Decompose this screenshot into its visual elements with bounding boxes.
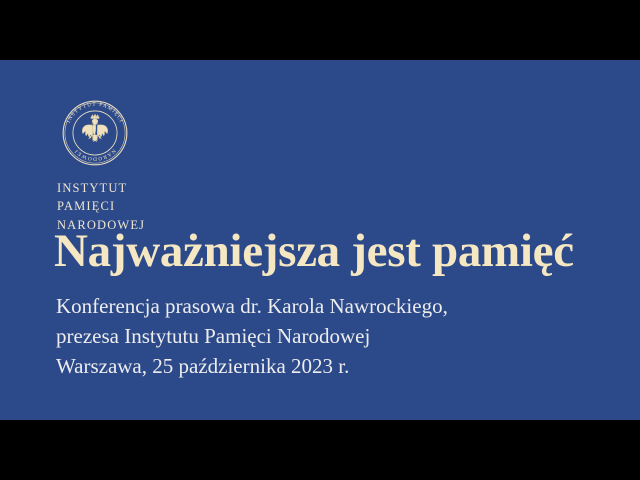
slide-headline: Najważniejsza jest pamięć (54, 228, 574, 276)
wordmark-line-2: PAMIĘCI (57, 197, 145, 215)
letterbox-bar-bottom (0, 420, 640, 480)
letterbox-bar-top (0, 0, 640, 60)
subtitle-line-3: Warszawa, 25 października 2023 r. (56, 352, 448, 382)
wordmark-line-1: INSTYTUT (57, 179, 145, 197)
ipn-logo-block: INSTYTUT PAMIĘCI NARODOWEJ (57, 98, 145, 234)
ipn-seal-icon: INSTYTUT PAMIĘCI NARODOWEJ (57, 98, 133, 168)
video-title-card: INSTYTUT PAMIĘCI NARODOWEJ (0, 0, 640, 480)
subtitle-line-1: Konferencja prasowa dr. Karola Nawrockie… (56, 292, 448, 322)
slide-canvas: INSTYTUT PAMIĘCI NARODOWEJ (0, 60, 640, 420)
slide-subtitle: Konferencja prasowa dr. Karola Nawrockie… (56, 292, 448, 381)
subtitle-line-2: prezesa Instytutu Pamięci Narodowej (56, 322, 448, 352)
